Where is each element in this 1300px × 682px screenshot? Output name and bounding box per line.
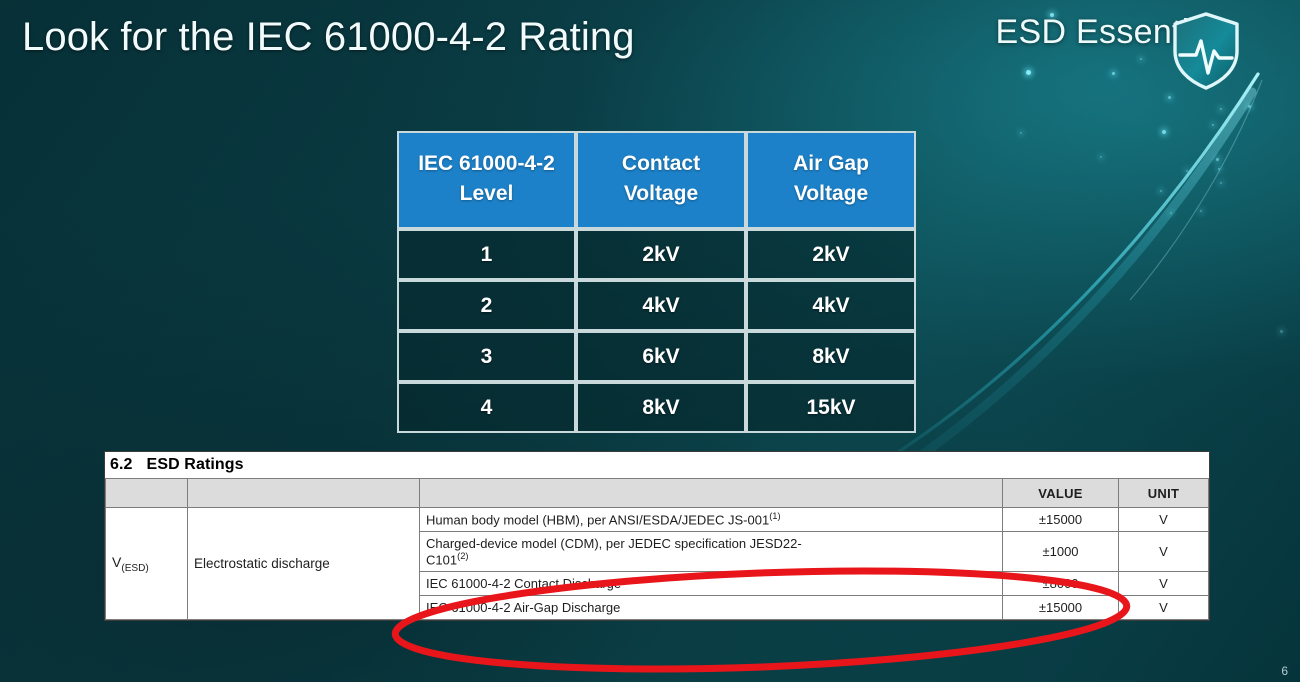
cell-description: IEC 61000-4-2 Contact Discharge xyxy=(420,572,1003,596)
particle-dot xyxy=(1280,330,1283,333)
particle-dot xyxy=(1112,72,1115,75)
page-number: 6 xyxy=(1281,664,1288,678)
cell-level: 3 xyxy=(397,331,576,382)
particle-dot xyxy=(1220,182,1222,184)
description-text: Human body model (HBM), per ANSI/ESDA/JE… xyxy=(426,513,769,528)
particle-dot xyxy=(1026,70,1031,75)
table-header-row: IEC 61000-4-2 Level Contact Voltage Air … xyxy=(397,131,916,229)
cell-symbol: V(ESD) xyxy=(106,508,188,620)
slide-title: Look for the IEC 61000-4-2 Rating xyxy=(22,14,635,60)
particle-dot xyxy=(1100,156,1102,158)
cell-contact: 2kV xyxy=(576,229,746,280)
cell-level: 2 xyxy=(397,280,576,331)
particle-dot xyxy=(1248,105,1251,108)
shield-heartbeat-icon xyxy=(1170,11,1242,91)
cell-unit: V xyxy=(1119,532,1209,572)
cell-unit: V xyxy=(1119,572,1209,596)
header-line: Voltage xyxy=(794,182,868,205)
cell-airgap: 15kV xyxy=(746,382,916,433)
footnote-ref: (2) xyxy=(457,551,468,561)
symbol-subscript: (ESD) xyxy=(121,562,148,573)
section-title: ESD Ratings xyxy=(147,456,244,473)
particle-dot xyxy=(1160,190,1162,192)
esd-ratings-datasheet-excerpt: 6.2ESD Ratings VALUE UNIT V(ESD) xyxy=(104,451,1210,621)
particle-dot xyxy=(1186,170,1188,172)
column-header-contact-voltage: Contact Voltage xyxy=(576,131,746,229)
particle-dot xyxy=(1200,210,1202,212)
cell-unit: V xyxy=(1119,596,1209,620)
cell-contact: 8kV xyxy=(576,382,746,433)
header-line: Level xyxy=(460,182,514,205)
symbol-base: V xyxy=(112,554,121,570)
table-row: 1 2kV 2kV xyxy=(397,229,916,280)
cell-description: Charged-device model (CDM), per JEDEC sp… xyxy=(420,532,1003,572)
description-text: Charged-device model (CDM), per JEDEC sp… xyxy=(426,536,802,551)
cell-parameter: Electrostatic discharge xyxy=(188,508,420,620)
cell-airgap: 2kV xyxy=(746,229,916,280)
particle-dot xyxy=(1218,168,1220,170)
table-row: 4 8kV 15kV xyxy=(397,382,916,433)
particle-dot xyxy=(1140,58,1142,60)
description-text-cont: C101 xyxy=(426,552,457,567)
cell-value: ±8000 xyxy=(1003,572,1119,596)
cell-unit: V xyxy=(1119,508,1209,532)
cell-airgap: 8kV xyxy=(746,331,916,382)
column-header-level: IEC 61000-4-2 Level xyxy=(397,131,576,229)
cell-description: Human body model (HBM), per ANSI/ESDA/JE… xyxy=(420,508,1003,532)
particle-dot xyxy=(1170,212,1172,214)
cell-value: ±1000 xyxy=(1003,532,1119,572)
table-row: 2 4kV 4kV xyxy=(397,280,916,331)
cell-contact: 6kV xyxy=(576,331,746,382)
particle-dot xyxy=(1168,96,1171,99)
table-row: V(ESD) Electrostatic discharge Human bod… xyxy=(106,508,1209,532)
header-blank-description xyxy=(420,479,1003,508)
section-heading: 6.2ESD Ratings xyxy=(105,452,1209,478)
particle-dot xyxy=(1220,108,1222,110)
slide-canvas: Look for the IEC 61000-4-2 Rating ESD Es… xyxy=(0,0,1300,682)
particle-dot xyxy=(1216,158,1219,161)
cell-level: 4 xyxy=(397,382,576,433)
brand-wordmark: ESD Essentials xyxy=(995,13,1234,52)
particle-dot xyxy=(1212,124,1214,126)
footnote-ref: (1) xyxy=(769,511,780,521)
header-blank-parameter xyxy=(188,479,420,508)
section-number: 6.2 xyxy=(110,456,133,473)
header-value: VALUE xyxy=(1003,479,1119,508)
cell-airgap: 4kV xyxy=(746,280,916,331)
datasheet-header-row: VALUE UNIT xyxy=(106,479,1209,508)
datasheet-table: VALUE UNIT V(ESD) Electrostatic discharg… xyxy=(105,478,1209,620)
cell-value: ±15000 xyxy=(1003,596,1119,620)
cell-value: ±15000 xyxy=(1003,508,1119,532)
header-line: Contact xyxy=(622,152,700,175)
header-unit: UNIT xyxy=(1119,479,1209,508)
cell-description: IEC 61000-4-2 Air-Gap Discharge xyxy=(420,596,1003,620)
cell-contact: 4kV xyxy=(576,280,746,331)
table-row: 3 6kV 8kV xyxy=(397,331,916,382)
particle-dot xyxy=(1162,130,1166,134)
header-line: Voltage xyxy=(624,182,698,205)
header-blank-symbol xyxy=(106,479,188,508)
particle-dot xyxy=(1020,132,1022,134)
column-header-air-gap-voltage: Air Gap Voltage xyxy=(746,131,916,229)
header-line: IEC 61000-4-2 xyxy=(418,152,555,175)
header-line: Air Gap xyxy=(793,152,869,175)
cell-level: 1 xyxy=(397,229,576,280)
iec-61000-4-2-levels-table: IEC 61000-4-2 Level Contact Voltage Air … xyxy=(397,131,916,433)
